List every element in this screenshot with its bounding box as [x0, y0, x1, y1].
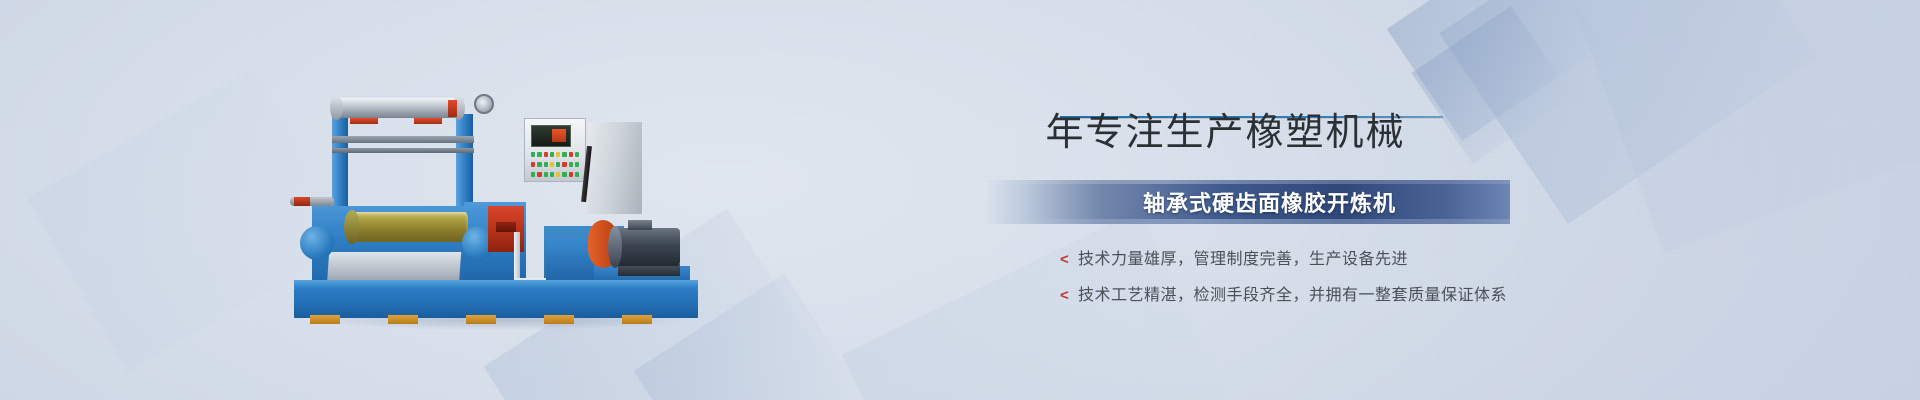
- machine-bearing-hub-left: [300, 226, 334, 260]
- machine-base-top: [294, 280, 698, 288]
- list-item-label: 技术力量雄厚，管理制度完善，生产设备先进: [1078, 242, 1408, 278]
- machine-red-clamp-left: [350, 118, 378, 124]
- machine-electrical-cabinet: [588, 122, 642, 214]
- machine-steel-roller-cap-left: [330, 96, 343, 120]
- machine-foot-pad: [544, 315, 574, 324]
- machine-foot-pad: [310, 315, 340, 324]
- machine-frame-post-left: [332, 114, 348, 214]
- decorative-polygon-top-right-4: [1561, 0, 1920, 253]
- machine-foot-pad: [622, 315, 652, 324]
- machine-brass-roller-end: [344, 210, 360, 244]
- product-image: [288, 92, 708, 324]
- machine-motor-cap: [608, 226, 622, 268]
- list-item: < 技术力量雄厚，管理制度完善，生产设备先进: [1060, 242, 1600, 278]
- machine-control-display: [531, 125, 571, 147]
- chevron-left-icon: <: [1060, 278, 1078, 314]
- machine-button-row-3: [531, 172, 579, 177]
- machine-steel-roller: [336, 98, 458, 118]
- machine-side-cylinder-cap: [294, 197, 310, 206]
- list-item: < 技术工艺精湛，检测手段齐全，并拥有一整套质量保证体系: [1060, 278, 1600, 314]
- machine-crossbar-upper: [332, 136, 474, 143]
- machine-foot-pad: [388, 315, 418, 324]
- machine-handwheel: [474, 94, 494, 114]
- machine-frame-post-right: [456, 114, 473, 214]
- machine-red-lever: [448, 100, 457, 117]
- banner-content: 年专注生产橡塑机械 轴承式硬齿面橡胶开炼机 < 技术力量雄厚，管理制度完善，生产…: [1060, 0, 1600, 400]
- product-name-ribbon: 轴承式硬齿面橡胶开炼机: [985, 180, 1510, 224]
- machine-motor-junction-box: [628, 220, 652, 230]
- machine-motor: [614, 228, 680, 266]
- machine-base-frame: [294, 288, 698, 318]
- machine-red-clamp-right: [414, 118, 442, 124]
- machine-foot-pad: [466, 315, 496, 324]
- hero-banner: 年专注生产橡塑机械 轴承式硬齿面橡胶开炼机 < 技术力量雄厚，管理制度完善，生产…: [0, 0, 1920, 400]
- machine-gearbox-plate: [496, 222, 516, 232]
- product-name-label: 轴承式硬齿面橡胶开炼机: [985, 180, 1510, 224]
- feature-list: < 技术力量雄厚，管理制度完善，生产设备先进 < 技术工艺精湛，检测手段齐全，并…: [1060, 242, 1600, 314]
- machine-button-row-1: [531, 152, 579, 157]
- chevron-left-icon: <: [1060, 242, 1078, 278]
- machine-brass-roller: [352, 212, 468, 242]
- machine-crossbar-lower: [332, 148, 474, 153]
- machine-button-row-2: [531, 162, 579, 167]
- page-title: 年专注生产橡塑机械: [1008, 108, 1443, 158]
- list-item-label: 技术工艺精湛，检测手段齐全，并拥有一整套质量保证体系: [1078, 278, 1507, 314]
- machine-pipe-vertical: [514, 232, 520, 284]
